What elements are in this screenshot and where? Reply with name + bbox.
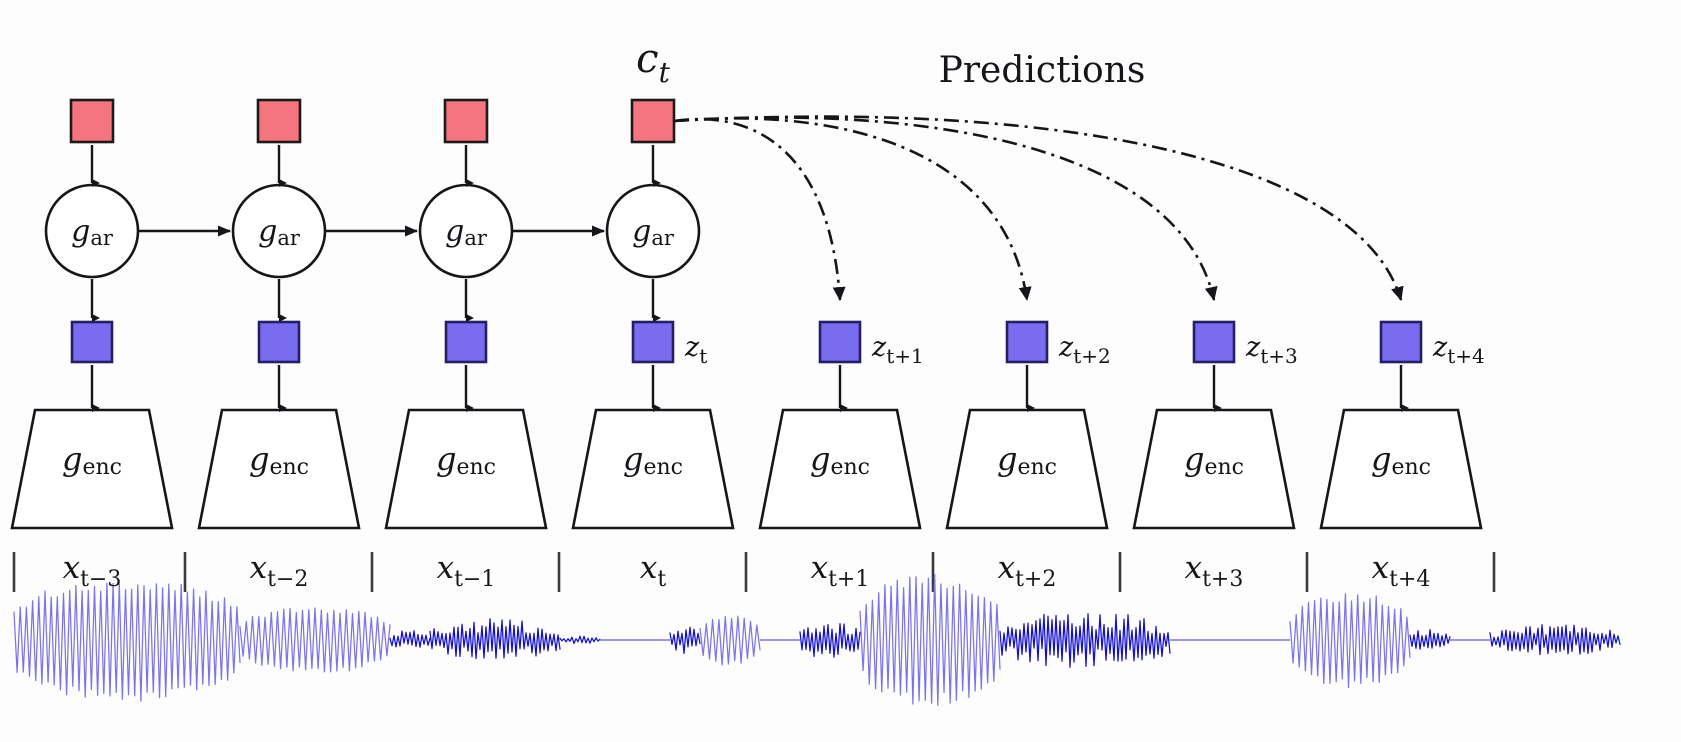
encoder-node[interactable]: genc — [386, 410, 546, 528]
latent-node[interactable] — [446, 322, 486, 362]
latent-square — [820, 322, 860, 362]
context-square[interactable] — [445, 100, 487, 142]
latent-node[interactable] — [820, 322, 860, 362]
latent-square — [446, 322, 486, 362]
predictions-label: Predictions — [939, 50, 1146, 91]
latent-label: zt+2 — [1058, 332, 1111, 368]
latent-label: zt+3 — [1245, 332, 1298, 368]
waveform-segment — [390, 631, 430, 648]
waveform-segment — [1410, 630, 1450, 650]
context-square[interactable] — [632, 100, 674, 142]
waveform-segment — [670, 627, 700, 653]
latent-label: zt+1 — [871, 332, 924, 368]
context-square[interactable] — [258, 100, 300, 142]
waveform-segment — [800, 624, 860, 658]
autoregressive-node[interactable]: gar — [46, 185, 138, 277]
encoder-node[interactable]: genc — [760, 410, 920, 528]
input-label: xt−2 — [250, 550, 309, 592]
autoregressive-node[interactable]: gar — [233, 185, 325, 277]
prediction-curves — [674, 117, 1401, 300]
waveform-segment — [1000, 614, 1170, 668]
input-label: xt+3 — [1185, 550, 1244, 592]
prediction-curve — [674, 119, 840, 300]
prediction-curve — [674, 117, 1401, 300]
latent-square — [72, 322, 112, 362]
encoder-row: gencgencgencgencgencgencgencgenc — [12, 410, 1481, 528]
latent-node[interactable] — [633, 322, 673, 362]
autoregressive-node[interactable]: gar — [420, 185, 512, 277]
latent-square — [1007, 322, 1047, 362]
input-label: xt−1 — [437, 550, 496, 592]
encoder-node[interactable]: genc — [573, 410, 733, 528]
input-label: xt+1 — [811, 550, 870, 592]
latent-square — [1194, 322, 1234, 362]
encoder-node[interactable]: genc — [1134, 410, 1294, 528]
prediction-curve — [674, 118, 1214, 300]
input-label: xt+4 — [1372, 550, 1431, 592]
latent-node[interactable] — [72, 322, 112, 362]
cpc-architecture-svg: gencgencgencgencgencgencgencgenc ztzt+1z… — [0, 0, 1681, 742]
diagram-canvas: gencgencgencgencgencgencgencgenc ztzt+1z… — [0, 0, 1681, 742]
encoder-node[interactable]: genc — [12, 410, 172, 528]
latent-label: zt+4 — [1432, 332, 1485, 368]
latent-row: ztzt+1zt+2zt+3zt+4 — [72, 322, 1485, 408]
waveform-segment — [14, 583, 240, 701]
waveform-segment — [240, 608, 390, 672]
top-annotations: ctPredictions — [636, 36, 1145, 91]
prediction-curve — [674, 118, 1027, 300]
input-label: xt+2 — [998, 550, 1057, 592]
latent-square — [259, 322, 299, 362]
waveform-segment — [560, 636, 600, 643]
latent-square — [633, 322, 673, 362]
latent-label: zt — [684, 332, 707, 368]
autoregressive-node[interactable]: gar — [607, 185, 699, 277]
context-square[interactable] — [71, 100, 113, 142]
time-step-separators — [14, 552, 1494, 592]
input-label: xt — [640, 550, 666, 592]
encoder-node[interactable]: genc — [1321, 410, 1481, 528]
latent-square — [1381, 322, 1421, 362]
waveform-segment — [1490, 625, 1620, 655]
context-row — [71, 100, 674, 183]
audio-waveform — [14, 574, 1620, 705]
input-label: xt−3 — [63, 550, 122, 592]
waveform-segment — [1290, 594, 1410, 688]
waveform-segment — [430, 619, 560, 659]
latent-node[interactable] — [1194, 322, 1234, 362]
context-output-label: ct — [636, 36, 670, 89]
waveform-segment — [700, 616, 760, 665]
encoder-node[interactable]: genc — [199, 410, 359, 528]
waveform-segment — [860, 574, 1000, 705]
autoregressive-row: gargargargar — [46, 185, 699, 318]
encoder-node[interactable]: genc — [947, 410, 1107, 528]
latent-node[interactable] — [1007, 322, 1047, 362]
latent-node[interactable] — [1381, 322, 1421, 362]
latent-node[interactable] — [259, 322, 299, 362]
